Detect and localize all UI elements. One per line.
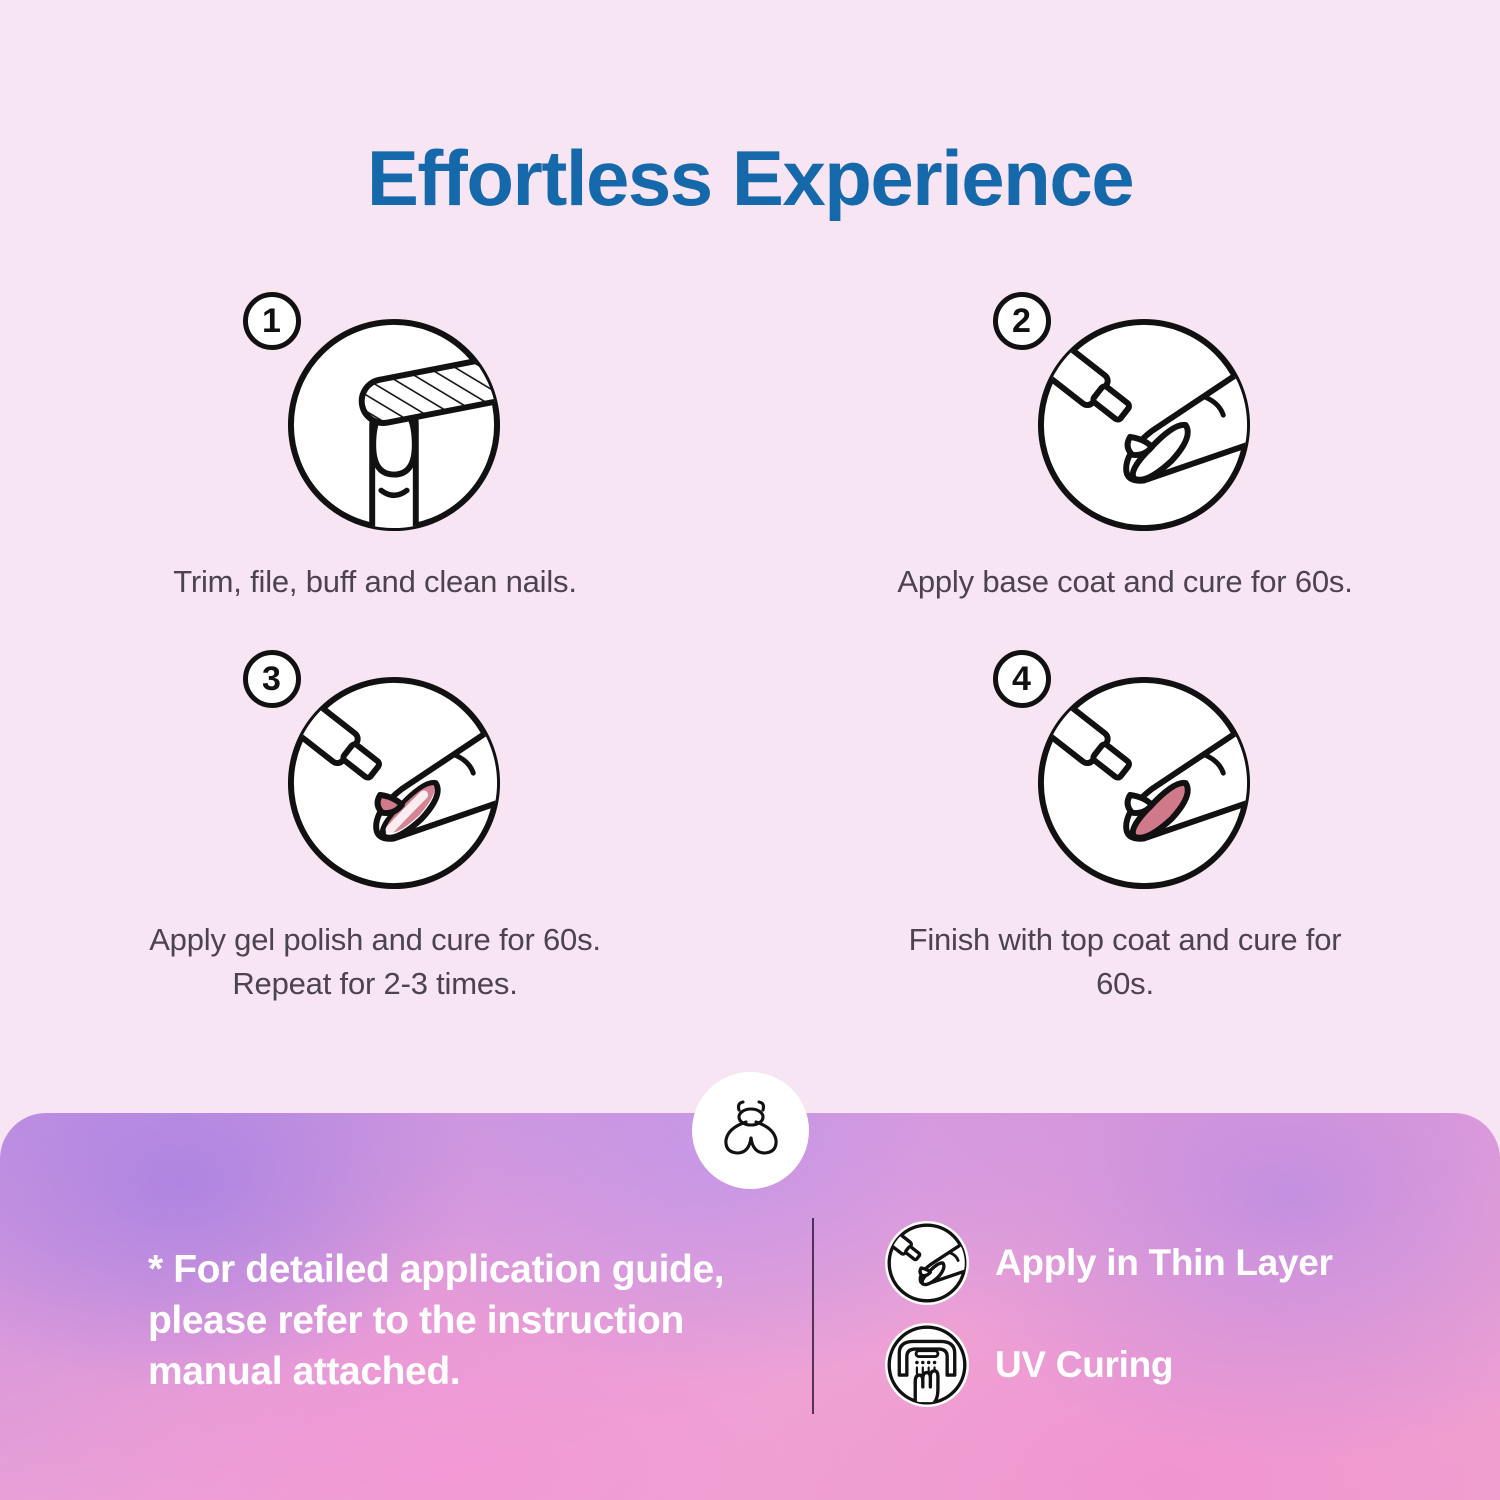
- footer-divider: [812, 1218, 814, 1414]
- step-card-2: 2: [750, 288, 1500, 604]
- footer-note: * For detailed application guide, please…: [0, 1215, 812, 1397]
- feature-uv-curing: UV Curing: [885, 1323, 1333, 1407]
- step-caption-1: Trim, file, buff and clean nails.: [145, 560, 605, 604]
- gel-polish-brush-icon: [285, 674, 503, 892]
- step-number-badge-2: 2: [993, 292, 1051, 350]
- step-4-illustration: 4: [993, 646, 1258, 904]
- step-card-4: 4 Finish with top coat and: [750, 646, 1500, 1006]
- step-number-badge-1: 1: [243, 292, 301, 350]
- steps-grid: 1: [0, 288, 1500, 1006]
- thin-layer-brush-icon: [885, 1221, 969, 1305]
- feature-label-uv-curing: UV Curing: [995, 1344, 1173, 1386]
- step-3-illustration: 3: [243, 646, 508, 904]
- step-card-1: 1: [0, 288, 750, 604]
- step-caption-3: Apply gel polish and cure for 60s. Repea…: [140, 918, 610, 1006]
- brand-logo-badge: [692, 1072, 809, 1189]
- step-caption-2: Apply base coat and cure for 60s.: [895, 560, 1355, 604]
- step-card-3: 3: [0, 646, 750, 1006]
- page-title: Effortless Experience: [0, 138, 1500, 220]
- feature-thin-layer: Apply in Thin Layer: [885, 1221, 1333, 1305]
- feature-label-thin-layer: Apply in Thin Layer: [995, 1242, 1333, 1284]
- step-number-badge-4: 4: [993, 650, 1051, 708]
- nail-file-icon: [285, 316, 503, 534]
- step-2-illustration: 2: [993, 288, 1258, 546]
- top-coat-brush-icon: [1035, 674, 1253, 892]
- uv-lamp-icon: [885, 1323, 969, 1407]
- footer-features: Apply in Thin Layer: [885, 1221, 1333, 1407]
- step-caption-4: Finish with top coat and cure for 60s.: [890, 918, 1360, 1006]
- step-number-badge-3: 3: [243, 650, 301, 708]
- base-coat-brush-icon: [1035, 316, 1253, 534]
- butterfly-logo-icon: [718, 1100, 784, 1162]
- step-1-illustration: 1: [243, 288, 508, 546]
